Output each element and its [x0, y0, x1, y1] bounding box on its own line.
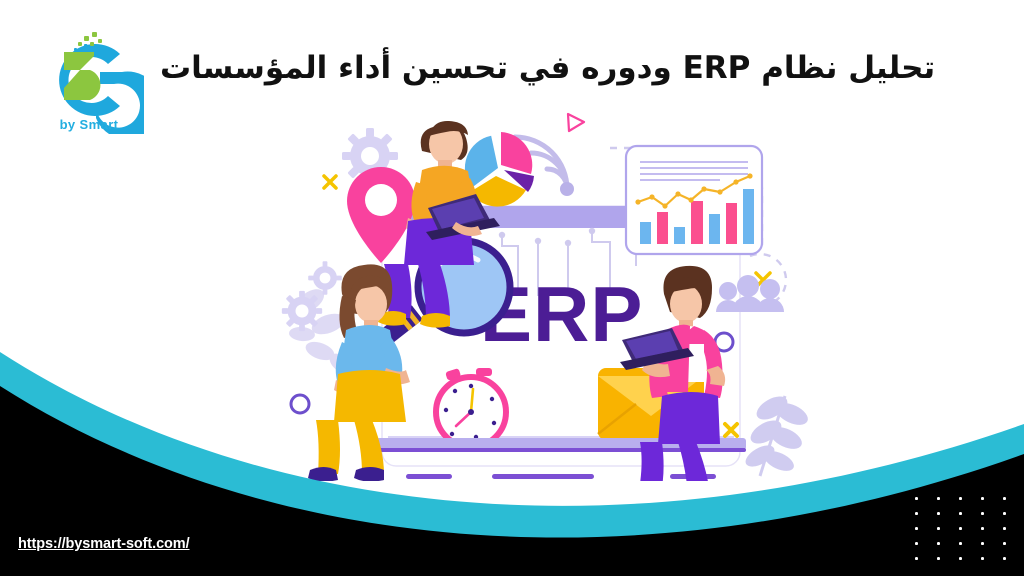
dot-grid-dot [1003, 512, 1006, 515]
dot-grid-dot [937, 557, 940, 560]
dot-grid-dot [959, 497, 962, 500]
dot-grid-dot [959, 527, 962, 530]
leaf-branch-decor-right [742, 392, 811, 476]
dot-grid-dot [915, 542, 918, 545]
website-url[interactable]: https://bysmart-soft.com/ [18, 536, 190, 552]
dot-grid-dot [981, 527, 984, 530]
analytics-dashboard-card [626, 146, 762, 254]
play-triangle-decor [568, 114, 584, 131]
circle-outline-decor-left [291, 395, 309, 413]
dot-grid-dot [937, 497, 940, 500]
illustration-svg: ERP [280, 96, 840, 481]
cross-mark-decor-left [324, 176, 336, 188]
dot-grid-decor [915, 497, 1011, 563]
poster-canvas: ERP [0, 0, 1024, 576]
dot-grid-dot [1003, 527, 1006, 530]
dot-grid-dot [959, 512, 962, 515]
brand-logo[interactable]: by Smart [34, 26, 144, 134]
dot-grid-dot [937, 542, 940, 545]
brand-logo-tagline: by Smart [34, 117, 144, 132]
dot-grid-dot [1003, 557, 1006, 560]
dot-grid-dot [915, 497, 918, 500]
dot-grid-dot [937, 527, 940, 530]
dot-grid-dot [915, 512, 918, 515]
page-title: تحليل نظام ERP ودوره في تحسين أداء المؤس… [160, 36, 1010, 100]
dot-grid-dot [915, 527, 918, 530]
dot-grid-dot [1003, 542, 1006, 545]
dot-grid-dot [981, 512, 984, 515]
dot-grid-dot [981, 497, 984, 500]
dot-grid-dot [959, 557, 962, 560]
dot-grid-dot [981, 557, 984, 560]
dot-grid-dot [937, 512, 940, 515]
erp-illustration: ERP [280, 96, 840, 481]
dot-grid-dot [981, 542, 984, 545]
monitor-stand-dashes [406, 474, 716, 479]
gear-icon-left [282, 291, 322, 331]
dot-grid-dot [1003, 497, 1006, 500]
dot-grid-dot [959, 542, 962, 545]
dot-grid-dot [915, 557, 918, 560]
